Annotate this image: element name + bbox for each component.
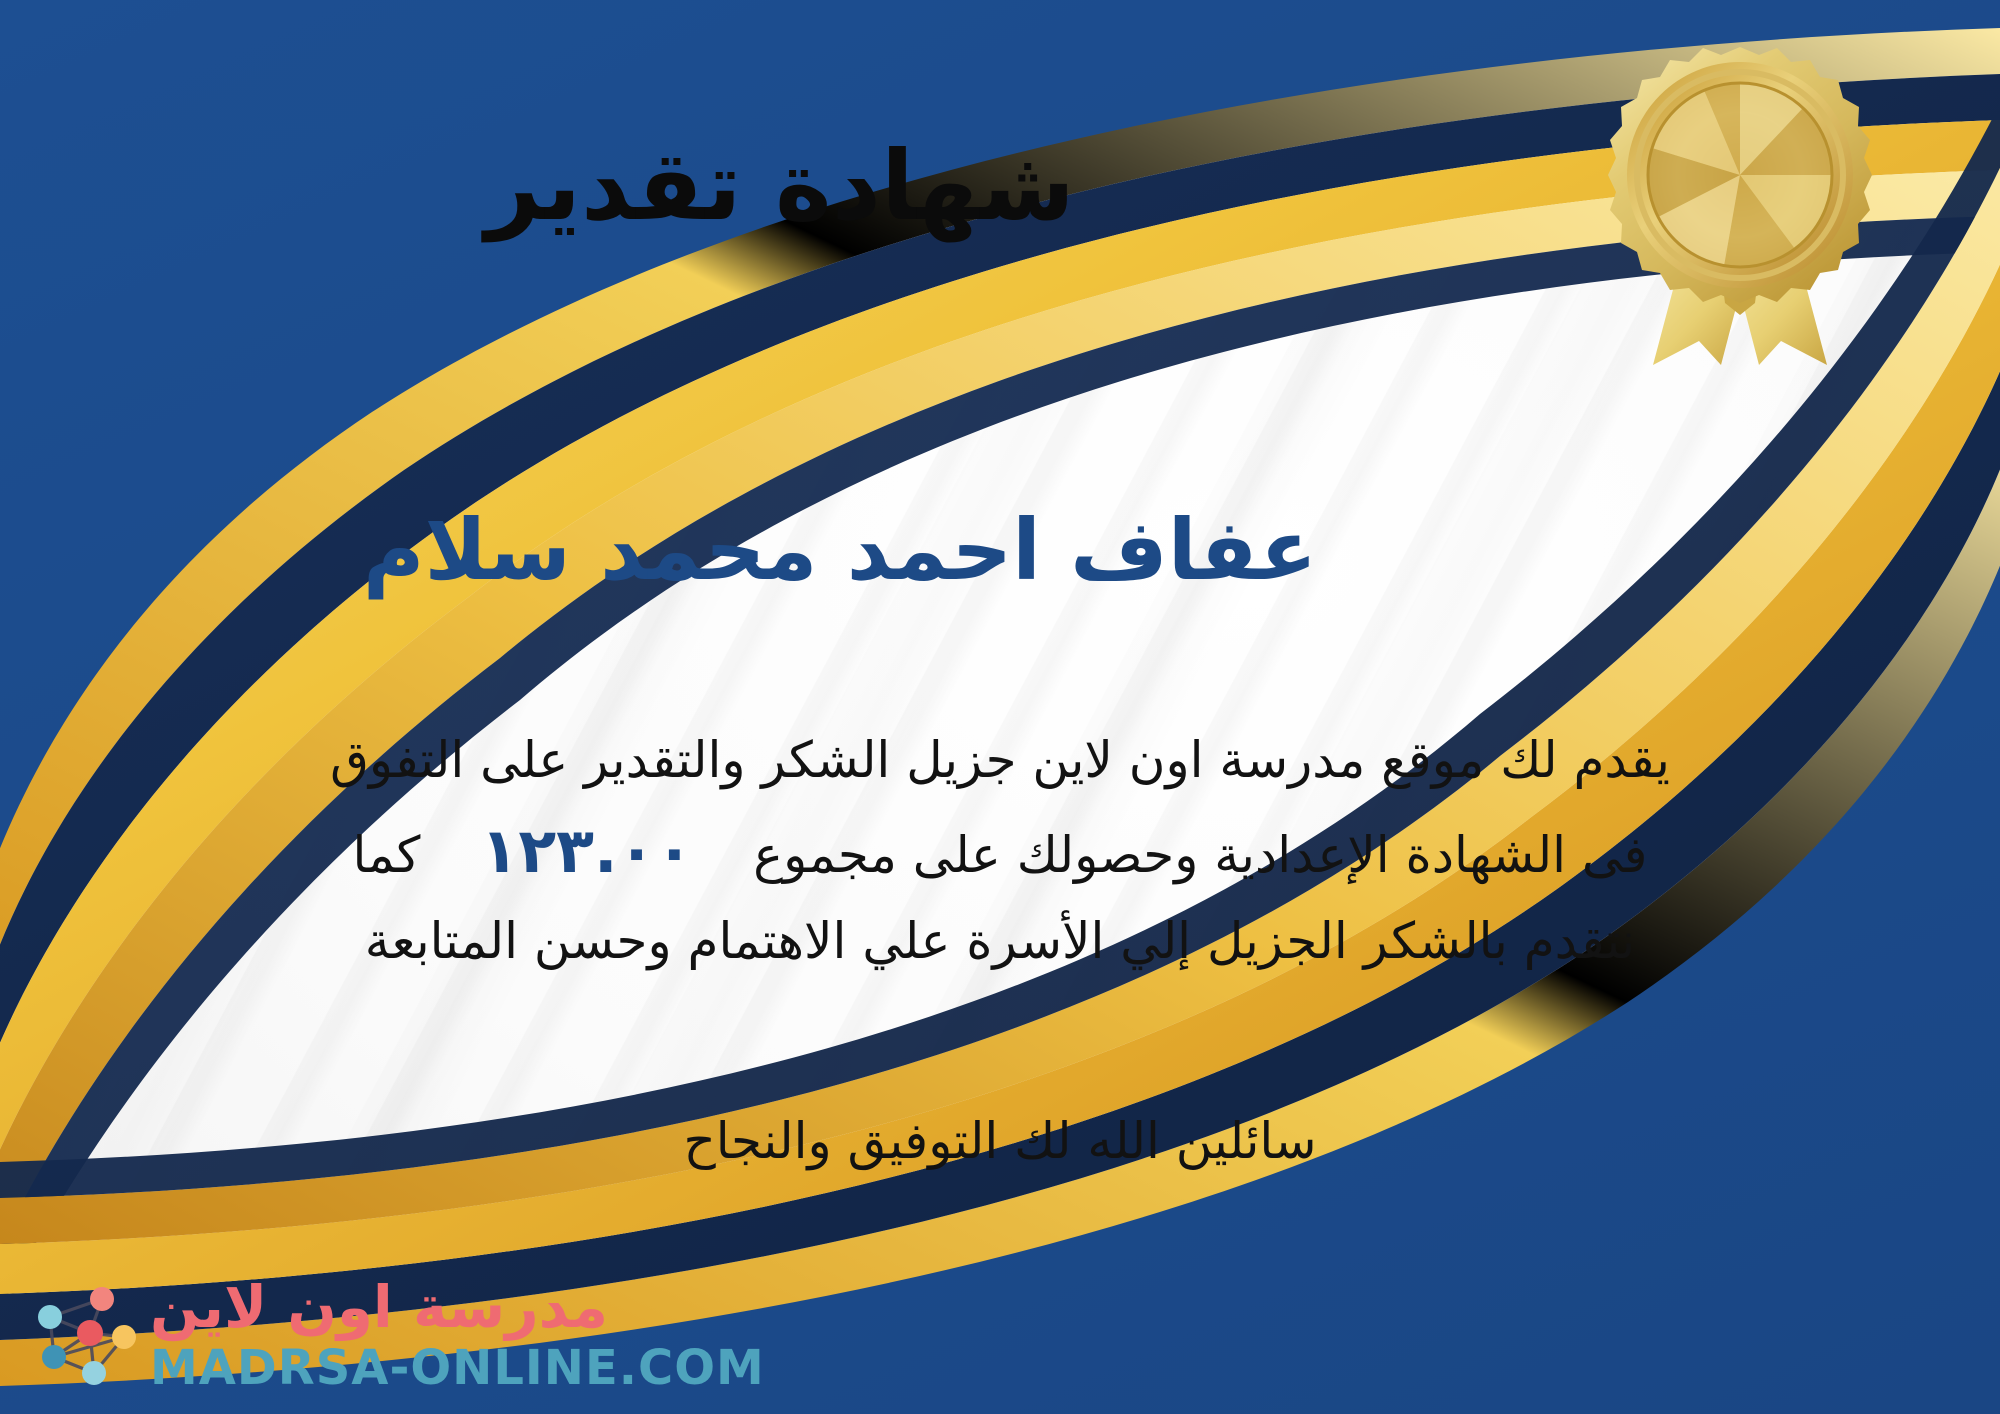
body-line-2-prefix: فى الشهادة الإعدادية وحصولك على مجموع — [753, 826, 1647, 884]
body-line-2: فى الشهادة الإعدادية وحصولك على مجموع١٢٣… — [40, 801, 1960, 901]
closing-line: سائلين الله لك التوفيق والنجاح — [40, 1112, 1960, 1170]
grade-total-value: ١٢٣.٠٠ — [420, 814, 753, 887]
brand-arabic-name: مدرسة اون لاين — [150, 1278, 608, 1336]
certificate-content: شهادة تقدير عفاف احمد محمد سلام يقدم لك … — [0, 0, 2000, 1414]
certificate-canvas: شهادة تقدير عفاف احمد محمد سلام يقدم لك … — [0, 0, 2000, 1414]
brand-text: مدرسة اون لاين MADRSA-ONLINE.COM — [150, 1278, 765, 1392]
body-line-2-suffix: كما — [353, 826, 421, 884]
network-nodes-icon — [28, 1279, 140, 1391]
body-line-3: نتقدم بالشكر الجزيل إلي الأسرة علي الاهت… — [40, 901, 1960, 982]
recipient-name: عفاف احمد محمد سلام — [0, 500, 1680, 601]
brand-logo[interactable]: مدرسة اون لاين MADRSA-ONLINE.COM — [28, 1278, 765, 1392]
certificate-body: يقدم لك موقع مدرسة اون لاين جزيل الشكر و… — [40, 720, 1960, 982]
body-line-1: يقدم لك موقع مدرسة اون لاين جزيل الشكر و… — [40, 720, 1960, 801]
brand-url[interactable]: MADRSA-ONLINE.COM — [150, 1344, 765, 1392]
page-title: شهادة تقدير — [0, 130, 1560, 243]
